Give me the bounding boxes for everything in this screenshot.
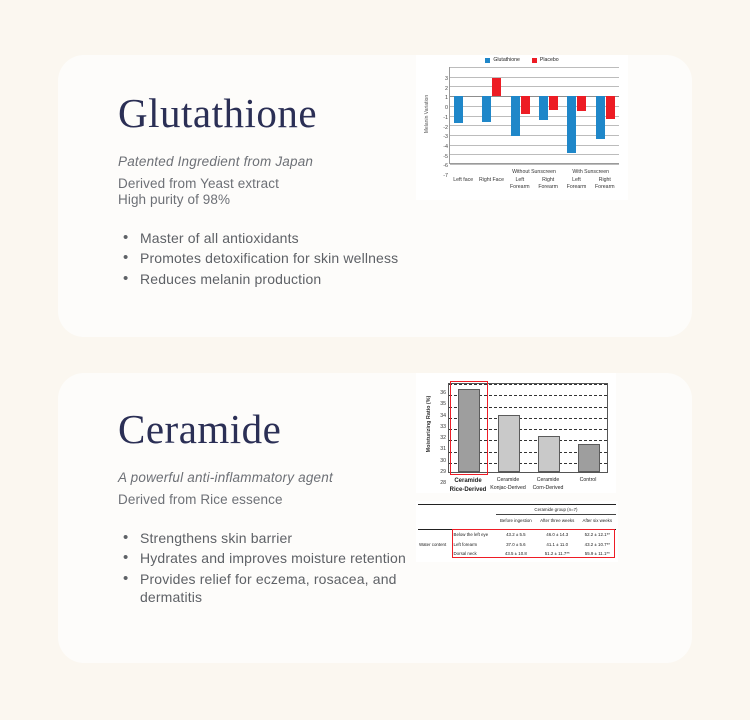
- bar-placebo-1: [492, 78, 501, 96]
- moisturizing-ratio-chart: Moisturizing Ratio (%) 36353433323130292…: [416, 373, 616, 493]
- glutathione-figure-column: Glutathione Placebo Melanin Variation 32…: [408, 55, 692, 337]
- bar-glutathione-0: [454, 96, 463, 123]
- legend-label-placebo: Placebo: [540, 57, 559, 63]
- ingredient-card-glutathione: Glutathione Patented Ingredient from Jap…: [58, 55, 692, 337]
- column-header-before: Before ingestion: [496, 515, 536, 525]
- table-cell-empty: [453, 505, 496, 515]
- bar-3: [578, 444, 600, 472]
- table-header-row: Before ingestion After three weeks After…: [418, 515, 616, 525]
- table-cell-value: 43.2 ± 5.5: [496, 530, 536, 540]
- glutathione-text-column: Glutathione Patented Ingredient from Jap…: [58, 55, 408, 337]
- ceramide-subline-1: Derived from Rice essence: [118, 492, 408, 507]
- y-tick-label: -3: [443, 134, 448, 140]
- glutathione-subline-1: Derived from Yeast extract: [118, 176, 408, 191]
- row-site-label: Dorsal neck: [453, 549, 496, 558]
- water-content-results-table: Ceramide group (n=7) Before ingestion Af…: [416, 501, 618, 562]
- x-axis-labels: Left faceRight FaceLeftForearmRightForea…: [449, 168, 621, 200]
- ceramide-subtitle: A powerful anti-inflammatory agent: [118, 470, 408, 485]
- glutathione-subline-2: High purity of 98%: [118, 192, 408, 207]
- table-cell-value: 55.9 ± 11.1**: [579, 549, 616, 558]
- gridline: [449, 384, 607, 385]
- bar-placebo-2: [521, 96, 530, 113]
- y-tick-label: 1: [445, 95, 448, 101]
- y-tick-label: 36: [440, 390, 446, 396]
- column-header-six-weeks: After six weeks: [579, 515, 616, 525]
- y-tick-label: 35: [440, 401, 446, 407]
- legend-swatch-blue: [485, 58, 490, 63]
- y-tick-label: 0: [445, 105, 448, 111]
- page-title-ceramide: Ceramide: [118, 409, 408, 450]
- column-header-three-weeks: After three weeks: [536, 515, 579, 525]
- y-tick-label: 29: [440, 469, 446, 475]
- table-cell-value: 43.5 ± 10.8: [496, 549, 536, 558]
- ceramide-text-column: Ceramide A powerful anti-inflammatory ag…: [58, 373, 408, 663]
- row-group-label: Water content: [418, 530, 453, 559]
- list-item: Provides relief for eczema, rosacea, and…: [140, 570, 408, 607]
- table-cell-value: 43.2 ± 10.7**: [579, 540, 616, 549]
- table-cell-value: 51.2 ± 11.7**: [536, 549, 579, 558]
- y-tick-label: 31: [440, 446, 446, 452]
- y-tick-label: 33: [440, 424, 446, 430]
- y-tick-label: 34: [440, 413, 446, 419]
- table-group-header: Ceramide group (n=7): [496, 505, 616, 515]
- row-site-label: Below the left eye: [453, 530, 496, 540]
- ceramide-figure-column: Moisturizing Ratio (%) 36353433323130292…: [408, 373, 692, 663]
- legend-item-glutathione: Glutathione: [485, 57, 520, 63]
- gridline: [450, 164, 619, 165]
- bar-glutathione-4: [567, 96, 576, 153]
- bar-glutathione-2: [511, 96, 520, 136]
- glutathione-benefit-list: Master of all antioxidants Promotes deto…: [118, 229, 408, 288]
- bar-glutathione-3: [539, 96, 548, 120]
- chart-bars: [450, 67, 619, 163]
- y-tick-label: 30: [440, 458, 446, 464]
- y-tick-label: 2: [445, 86, 448, 92]
- bar-placebo-5: [606, 96, 615, 119]
- ceramide-benefit-list: Strengthens skin barrier Hydrates and im…: [118, 529, 408, 607]
- table-cell-value: 41.1 ± 11.0: [536, 540, 579, 549]
- list-item: Promotes detoxification for skin wellnes…: [140, 249, 408, 267]
- chart-legend: Glutathione Placebo: [416, 57, 628, 63]
- bar-2: [538, 436, 560, 472]
- y-tick-label: -2: [443, 125, 448, 131]
- x-tick-label: RightForearm: [587, 177, 623, 191]
- list-item: Master of all antioxidants: [140, 229, 408, 247]
- table-cell-empty: [418, 505, 453, 515]
- y-tick-label: 32: [440, 435, 446, 441]
- x-group-header: With Sunscreen: [554, 169, 627, 175]
- y-tick-label: -4: [443, 144, 448, 150]
- chart-plot-area: [449, 67, 619, 164]
- list-item: Reduces melanin production: [140, 270, 408, 288]
- y-axis-tick-labels: 363534333231302928: [428, 383, 446, 473]
- y-tick-label: -6: [443, 163, 448, 169]
- list-item: Hydrates and improves moisture retention: [140, 549, 408, 567]
- glutathione-subtitle: Patented Ingredient from Japan: [118, 154, 408, 169]
- table-cell-value: 52.2 ± 12.1**: [579, 530, 616, 540]
- table-cell-value: 46.0 ± 14.3: [536, 530, 579, 540]
- table-cell-value: 37.0 ± 5.6: [496, 540, 536, 549]
- ingredient-card-ceramide: Ceramide A powerful anti-inflammatory ag…: [58, 373, 692, 663]
- table-row: Water content Below the left eye 43.2 ± …: [418, 530, 616, 540]
- results-table: Ceramide group (n=7) Before ingestion Af…: [418, 504, 616, 558]
- melanin-variation-chart: Glutathione Placebo Melanin Variation 32…: [416, 55, 628, 200]
- table-cell-empty: [453, 515, 496, 525]
- slide-page: Glutathione Patented Ingredient from Jap…: [0, 0, 750, 720]
- bar-placebo-4: [577, 96, 586, 111]
- chart-plot-area: [448, 383, 608, 473]
- y-tick-label: -1: [443, 115, 448, 121]
- bar-glutathione-5: [596, 96, 605, 139]
- bar-glutathione-1: [482, 96, 491, 122]
- y-axis-tick-labels: 3210-1-2-3-4-5-6-7: [430, 67, 448, 164]
- x-tick-label: Control: [562, 477, 614, 485]
- bar-1: [498, 415, 520, 472]
- x-axis-labels: CeramideRice-DerivedCeramideKonjac-Deriv…: [448, 475, 610, 497]
- list-item: Strengthens skin barrier: [140, 529, 408, 547]
- y-tick-label: 3: [445, 76, 448, 82]
- bar-placebo-3: [549, 96, 558, 110]
- table-row: Ceramide group (n=7): [418, 505, 616, 515]
- page-title-glutathione: Glutathione: [118, 93, 408, 134]
- bar-0: [458, 389, 480, 472]
- legend-swatch-red: [532, 58, 537, 63]
- legend-item-placebo: Placebo: [532, 57, 559, 63]
- y-tick-label: -5: [443, 154, 448, 160]
- legend-label-glutathione: Glutathione: [493, 57, 520, 63]
- table-cell-empty: [418, 515, 453, 525]
- row-site-label: Left forearm: [453, 540, 496, 549]
